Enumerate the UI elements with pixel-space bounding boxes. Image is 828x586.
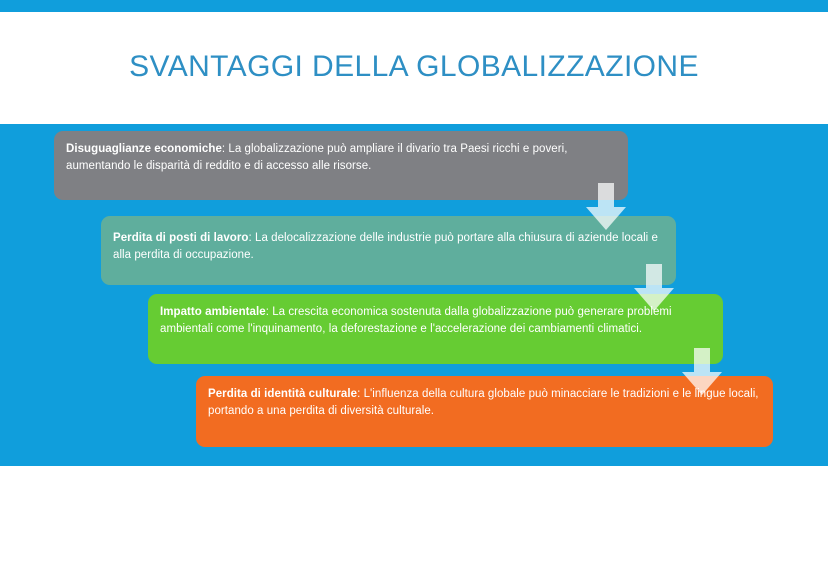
card-perdita-di-posti-di-lavoro[interactable]: Perdita di posti di lavoro: La delocaliz… [101, 216, 676, 285]
bottom-area [0, 466, 828, 586]
page-title: SVANTAGGI DELLA GLOBALIZZAZIONE [0, 50, 828, 84]
card-text: Perdita di identità culturale: L'influen… [208, 386, 759, 420]
card-text: Impatto ambientale: La crescita economic… [160, 304, 709, 338]
card-heading: Perdita di identità culturale [208, 388, 357, 400]
card-perdita-di-identita-culturale[interactable]: Perdita di identità culturale: L'influen… [196, 376, 773, 447]
top-accent-bar [0, 0, 828, 12]
card-impatto-ambientale[interactable]: Impatto ambientale: La crescita economic… [148, 294, 723, 364]
card-heading: Impatto ambientale [160, 306, 266, 318]
title-area: SVANTAGGI DELLA GLOBALIZZAZIONE [0, 12, 828, 124]
card-disuguaglianze-economiche[interactable]: Disuguaglianze economiche: La globalizza… [54, 131, 628, 200]
card-heading: Perdita di posti di lavoro [113, 232, 249, 244]
card-heading: Disuguaglianze economiche [66, 143, 222, 155]
slide: SVANTAGGI DELLA GLOBALIZZAZIONE Disuguag… [0, 0, 828, 586]
card-text: Disuguaglianze economiche: La globalizza… [66, 141, 614, 175]
card-text: Perdita di posti di lavoro: La delocaliz… [113, 230, 662, 264]
